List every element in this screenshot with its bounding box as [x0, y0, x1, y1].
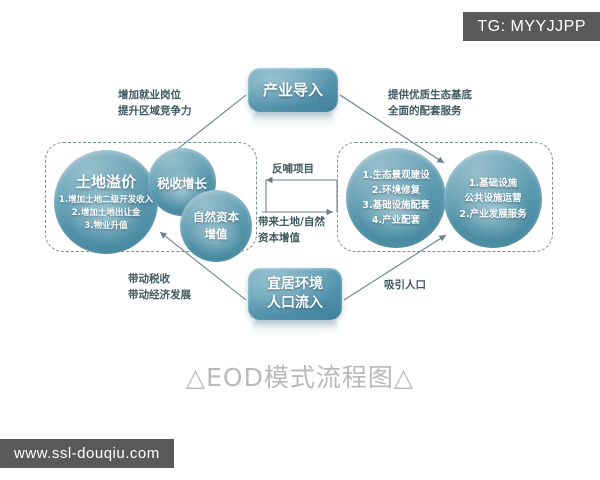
circle-natural-capital-title-2: 增值 — [205, 226, 228, 243]
node-industry-label: 产业导入 — [263, 80, 323, 100]
label-land-value-return: 带来土地/自然 资本增值 — [258, 215, 325, 247]
circle-ecology-item-4: 4.产业配套 — [372, 213, 420, 228]
circle-infrastructure-item-2: 公共设施运营 — [464, 191, 521, 206]
circle-land-premium-item-2: 2.增加土地出让金 — [72, 207, 141, 220]
label-land-value-line-2: 资本增值 — [258, 231, 325, 247]
circle-infrastructure-item-3: 2.产业发展服务 — [459, 207, 526, 222]
website-watermark-badge: www.ssl-douqiu.com — [0, 439, 174, 468]
circle-land-premium-title: 土地溢价 — [76, 171, 136, 192]
telegram-watermark-badge: TG: MYYJJPP — [463, 12, 600, 41]
label-jobs-line-2: 提升区域竞争力 — [118, 104, 192, 120]
label-tax-drive-line-1: 带动税收 — [128, 272, 191, 288]
label-feedback-project: 反哺项目 — [272, 162, 314, 178]
circle-ecology-item-3: 3.基础设施配套 — [362, 198, 429, 213]
label-eco-base: 提供优质生态基底 全面的配套服务 — [388, 88, 472, 120]
diagram-canvas: 产业导入 宜居环境 人口流入 土地溢价 1.增加土地二级开发收入 2.增加土地出… — [0, 0, 600, 480]
label-eco-base-line-2: 全面的配套服务 — [388, 104, 472, 120]
circle-land-premium[interactable]: 土地溢价 1.增加土地二级开发收入 2.增加土地出让金 3.物业升值 — [54, 150, 158, 254]
circle-infrastructure-item-1: 1.基础设施 — [469, 176, 517, 191]
label-jobs-line-1: 增加就业岗位 — [118, 88, 192, 104]
circle-ecology-item-2: 2.环境修复 — [372, 183, 420, 198]
diagram-title: △EOD模式流程图△ — [0, 358, 600, 394]
label-tax-drive: 带动税收 带动经济发展 — [128, 272, 191, 304]
node-livable-environment[interactable]: 宜居环境 人口流入 — [248, 268, 342, 320]
label-tax-drive-line-2: 带动经济发展 — [128, 288, 191, 304]
circle-ecology-item-1: 1.生态景观建设 — [362, 168, 429, 183]
label-land-value-line-1: 带来土地/自然 — [258, 215, 325, 231]
circle-ecology-construction[interactable]: 1.生态景观建设 2.环境修复 3.基础设施配套 4.产业配套 — [346, 148, 446, 248]
industry-box-reflection — [252, 112, 334, 126]
label-eco-base-line-1: 提供优质生态基底 — [388, 88, 472, 104]
circle-tax-growth-title: 税收增长 — [157, 173, 207, 192]
node-industry-import[interactable]: 产业导入 — [248, 68, 338, 112]
circle-natural-capital[interactable]: 自然资本 增值 — [180, 190, 252, 262]
livable-box-reflection — [252, 320, 338, 334]
node-livable-label-1: 宜居环境 — [267, 275, 323, 294]
label-attract-population: 吸引人口 — [384, 278, 426, 294]
circle-infrastructure-services[interactable]: 1.基础设施 公共设施运营 2.产业发展服务 — [444, 150, 542, 248]
circle-natural-capital-title-1: 自然资本 — [193, 209, 239, 226]
label-jobs: 增加就业岗位 提升区域竞争力 — [118, 88, 192, 120]
circle-land-premium-item-3: 3.物业升值 — [84, 220, 127, 233]
node-livable-label-2: 人口流入 — [267, 294, 323, 313]
circle-land-premium-item-1: 1.增加土地二级开发收入 — [59, 194, 153, 207]
